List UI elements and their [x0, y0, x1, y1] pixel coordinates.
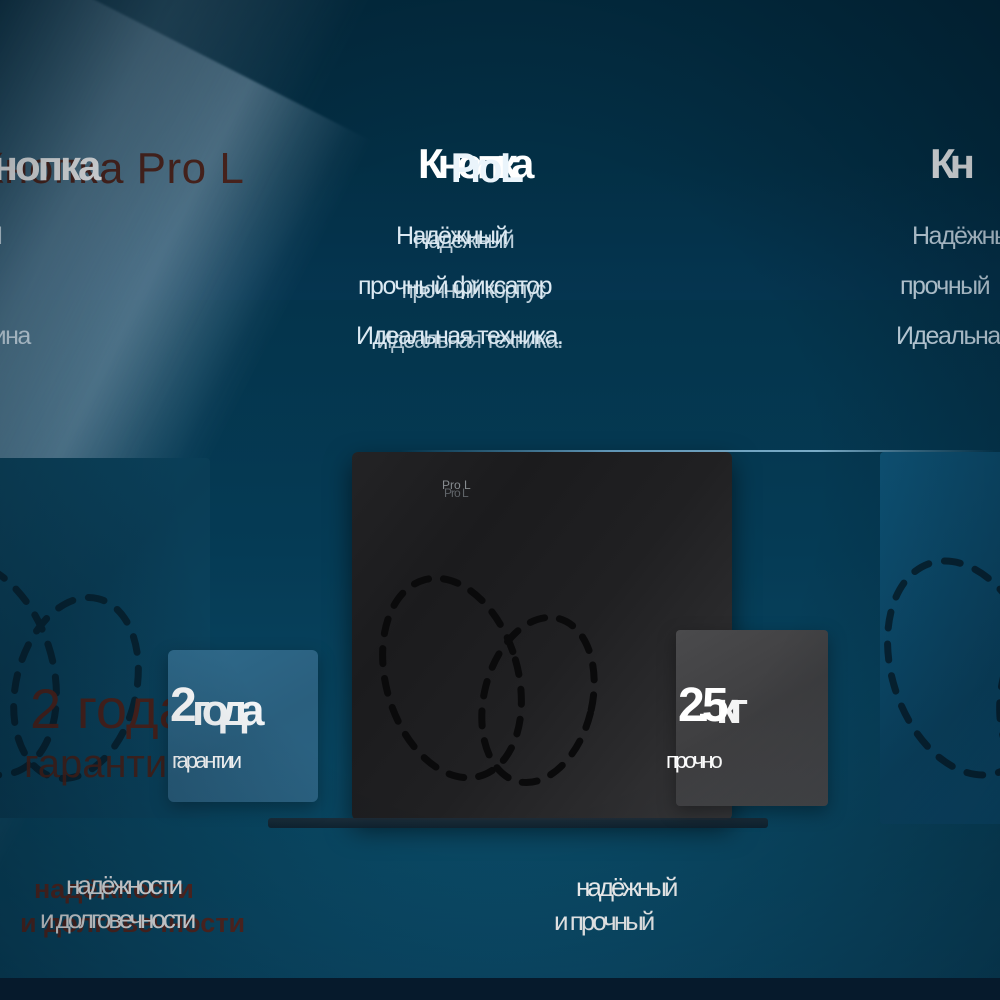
title-overlay-left: Кнопка — [0, 142, 98, 190]
marketing-banner: Кнопка Pro L Кнопка Кнопка Pro L Кн Надё… — [0, 0, 1000, 1000]
subtitle-line-2-echo: прочный корпус — [402, 276, 545, 305]
subtitle-left-line-3: пружина — [0, 322, 30, 351]
badge-strength-value: 2.5 — [678, 678, 721, 733]
subtitle-line-1-echo: Надёжный — [414, 226, 514, 255]
ghost-years-text: 2 года — [30, 676, 190, 741]
badge-warranty-unit: года — [192, 686, 256, 736]
caption-right-line-2: и прочный — [554, 906, 652, 937]
subtitle-right-line-1: Надёжный — [912, 222, 1000, 251]
title-overlay-center-b: Pro L — [451, 144, 518, 192]
caption-left-line-1: надёжности — [66, 870, 180, 901]
badge-warranty-value: 2 — [170, 678, 189, 733]
subtitle-right-line-2: прочный — [900, 272, 989, 301]
subtitle-line-3-echo: Идеальная техника. — [376, 326, 562, 355]
device-base-shadow — [268, 818, 768, 828]
bottom-dark-strip — [0, 978, 1000, 1000]
ghost-warranty-text: гарантии — [24, 742, 190, 787]
badge-warranty-caption: гарантии — [172, 748, 239, 774]
caption-right-line-1: надёжный — [576, 872, 675, 903]
product-panel-right — [880, 452, 1000, 824]
subtitle-right-line-3: Идеальная — [896, 322, 1000, 351]
caption-left-line-2: и долговечности — [40, 904, 193, 935]
badge-strength-unit: кг — [716, 684, 740, 734]
infinity-loop-pattern-device — [360, 560, 620, 800]
title-overlay-right: Кн — [930, 140, 969, 188]
device-brand-label-echo: Pro L — [444, 486, 468, 500]
device-top-highlight — [400, 450, 996, 452]
badge-strength-caption: прочно — [666, 748, 720, 774]
subtitle-left-line-1: БСИ — [0, 222, 2, 251]
